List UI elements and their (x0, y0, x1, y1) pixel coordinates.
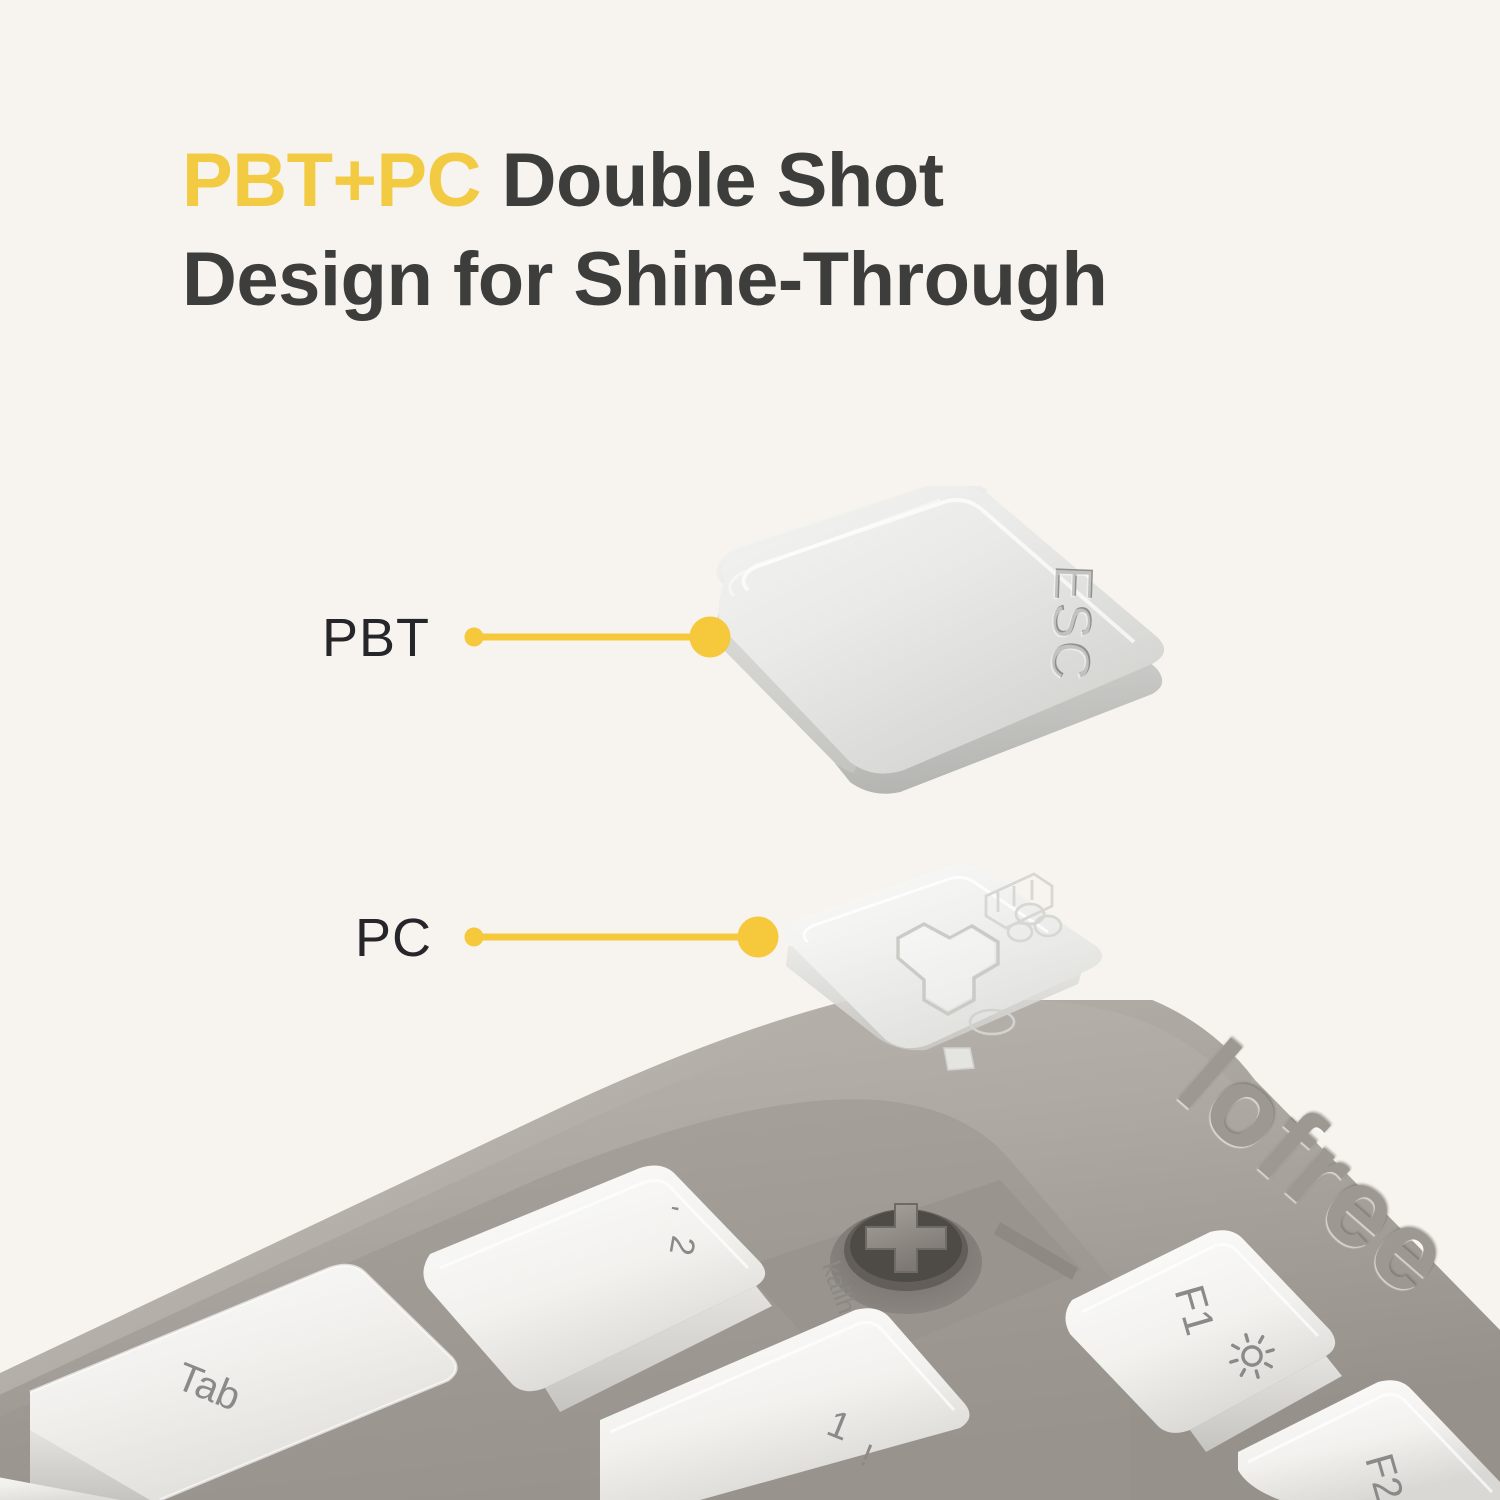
keycap-underside-plate (748, 862, 1138, 1077)
esc-legend: ESC ESC (1038, 564, 1104, 685)
headline-line2: Design for Shine-Through (182, 231, 1382, 330)
leader-dot-end-pbt (690, 617, 731, 658)
plate-nub (944, 1048, 974, 1070)
leader-bar-pc (474, 934, 758, 941)
callout-label-pc: PC (355, 907, 432, 969)
leader-bar-pbt (474, 634, 710, 641)
product-marketing-image: PBT+PC Double Shot Design for Shine-Thro… (0, 0, 1500, 1500)
page-title: PBT+PC Double Shot Design for Shine-Thro… (182, 132, 1382, 330)
esc-keycap: ESC ESC (704, 486, 1184, 806)
callout-label-pbt: PBT (322, 607, 430, 669)
leader-dot-end-pc (738, 917, 779, 958)
svg-text:ESC: ESC (1038, 565, 1102, 684)
headline-line1-rest: Double Shot (481, 138, 944, 223)
leader-line-pc (474, 917, 780, 957)
headline-accent-text: PBT+PC (182, 138, 481, 223)
leader-line-pbt (474, 617, 734, 657)
